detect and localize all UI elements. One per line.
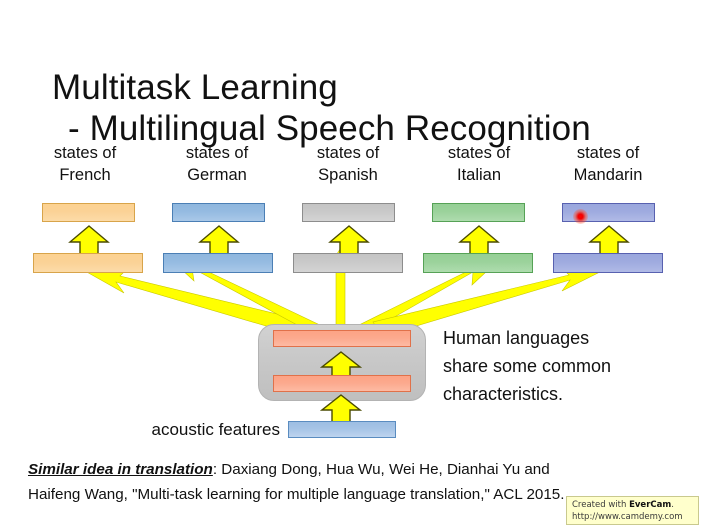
label-line-2: Spanish bbox=[283, 165, 413, 187]
slide-canvas: Multitask Learning - Multilingual Speech… bbox=[0, 0, 703, 527]
acoustic-features-label: acoustic features bbox=[110, 420, 280, 440]
bar-mandarin-bottom bbox=[553, 253, 663, 273]
label-states-of-german: states of German bbox=[152, 143, 282, 187]
watermark-brand: EverCam bbox=[629, 500, 671, 510]
label-states-of-mandarin: states of Mandarin bbox=[543, 143, 673, 187]
side-note-line-1: Human languages bbox=[443, 325, 693, 353]
label-states-of-spanish: states of Spanish bbox=[283, 143, 413, 187]
bar-french-bottom bbox=[33, 253, 143, 273]
citation-line-1-rest: : Daxiang Dong, Hua Wu, Wei He, Dianhai … bbox=[213, 461, 550, 478]
bar-french-top bbox=[42, 203, 135, 222]
bar-italian-top bbox=[432, 203, 525, 222]
side-note-line-3: characteristics. bbox=[443, 381, 693, 409]
label-states-of-french: states of French bbox=[20, 143, 150, 187]
bar-spanish-bottom bbox=[293, 253, 403, 273]
bar-german-top bbox=[172, 203, 265, 222]
label-line-2: Mandarin bbox=[543, 165, 673, 187]
label-line-1: states of bbox=[414, 143, 544, 165]
label-line-1: states of bbox=[543, 143, 673, 165]
label-states-of-italian: states of Italian bbox=[414, 143, 544, 187]
bar-shared-bottom bbox=[273, 375, 411, 392]
watermark-line-1: Created with EverCam. bbox=[572, 499, 694, 511]
title-line-1: Multitask Learning bbox=[52, 68, 338, 107]
evercam-watermark: Created with EverCam. http://www.camdemy… bbox=[566, 496, 699, 525]
watermark-line-2: http://www.camdemy.com bbox=[572, 511, 694, 523]
label-line-1: states of bbox=[283, 143, 413, 165]
side-note-line-2: share some common bbox=[443, 353, 693, 381]
bar-spanish-top bbox=[302, 203, 395, 222]
laser-pointer-dot bbox=[573, 209, 588, 224]
side-note-text: Human languages share some common charac… bbox=[443, 325, 693, 409]
label-line-1: states of bbox=[20, 143, 150, 165]
watermark-suffix: . bbox=[671, 500, 674, 510]
bar-acoustic-features bbox=[288, 421, 396, 438]
label-line-1: states of bbox=[152, 143, 282, 165]
citation-emphasis: Similar idea in translation bbox=[28, 461, 213, 478]
bar-german-bottom bbox=[163, 253, 273, 273]
label-line-2: Italian bbox=[414, 165, 544, 187]
bar-shared-top bbox=[273, 330, 411, 347]
label-line-2: French bbox=[20, 165, 150, 187]
citation-line-2: Haifeng Wang, "Multi-task learning for m… bbox=[28, 486, 564, 503]
label-line-2: German bbox=[152, 165, 282, 187]
watermark-prefix: Created with bbox=[572, 500, 629, 510]
bar-italian-bottom bbox=[423, 253, 533, 273]
